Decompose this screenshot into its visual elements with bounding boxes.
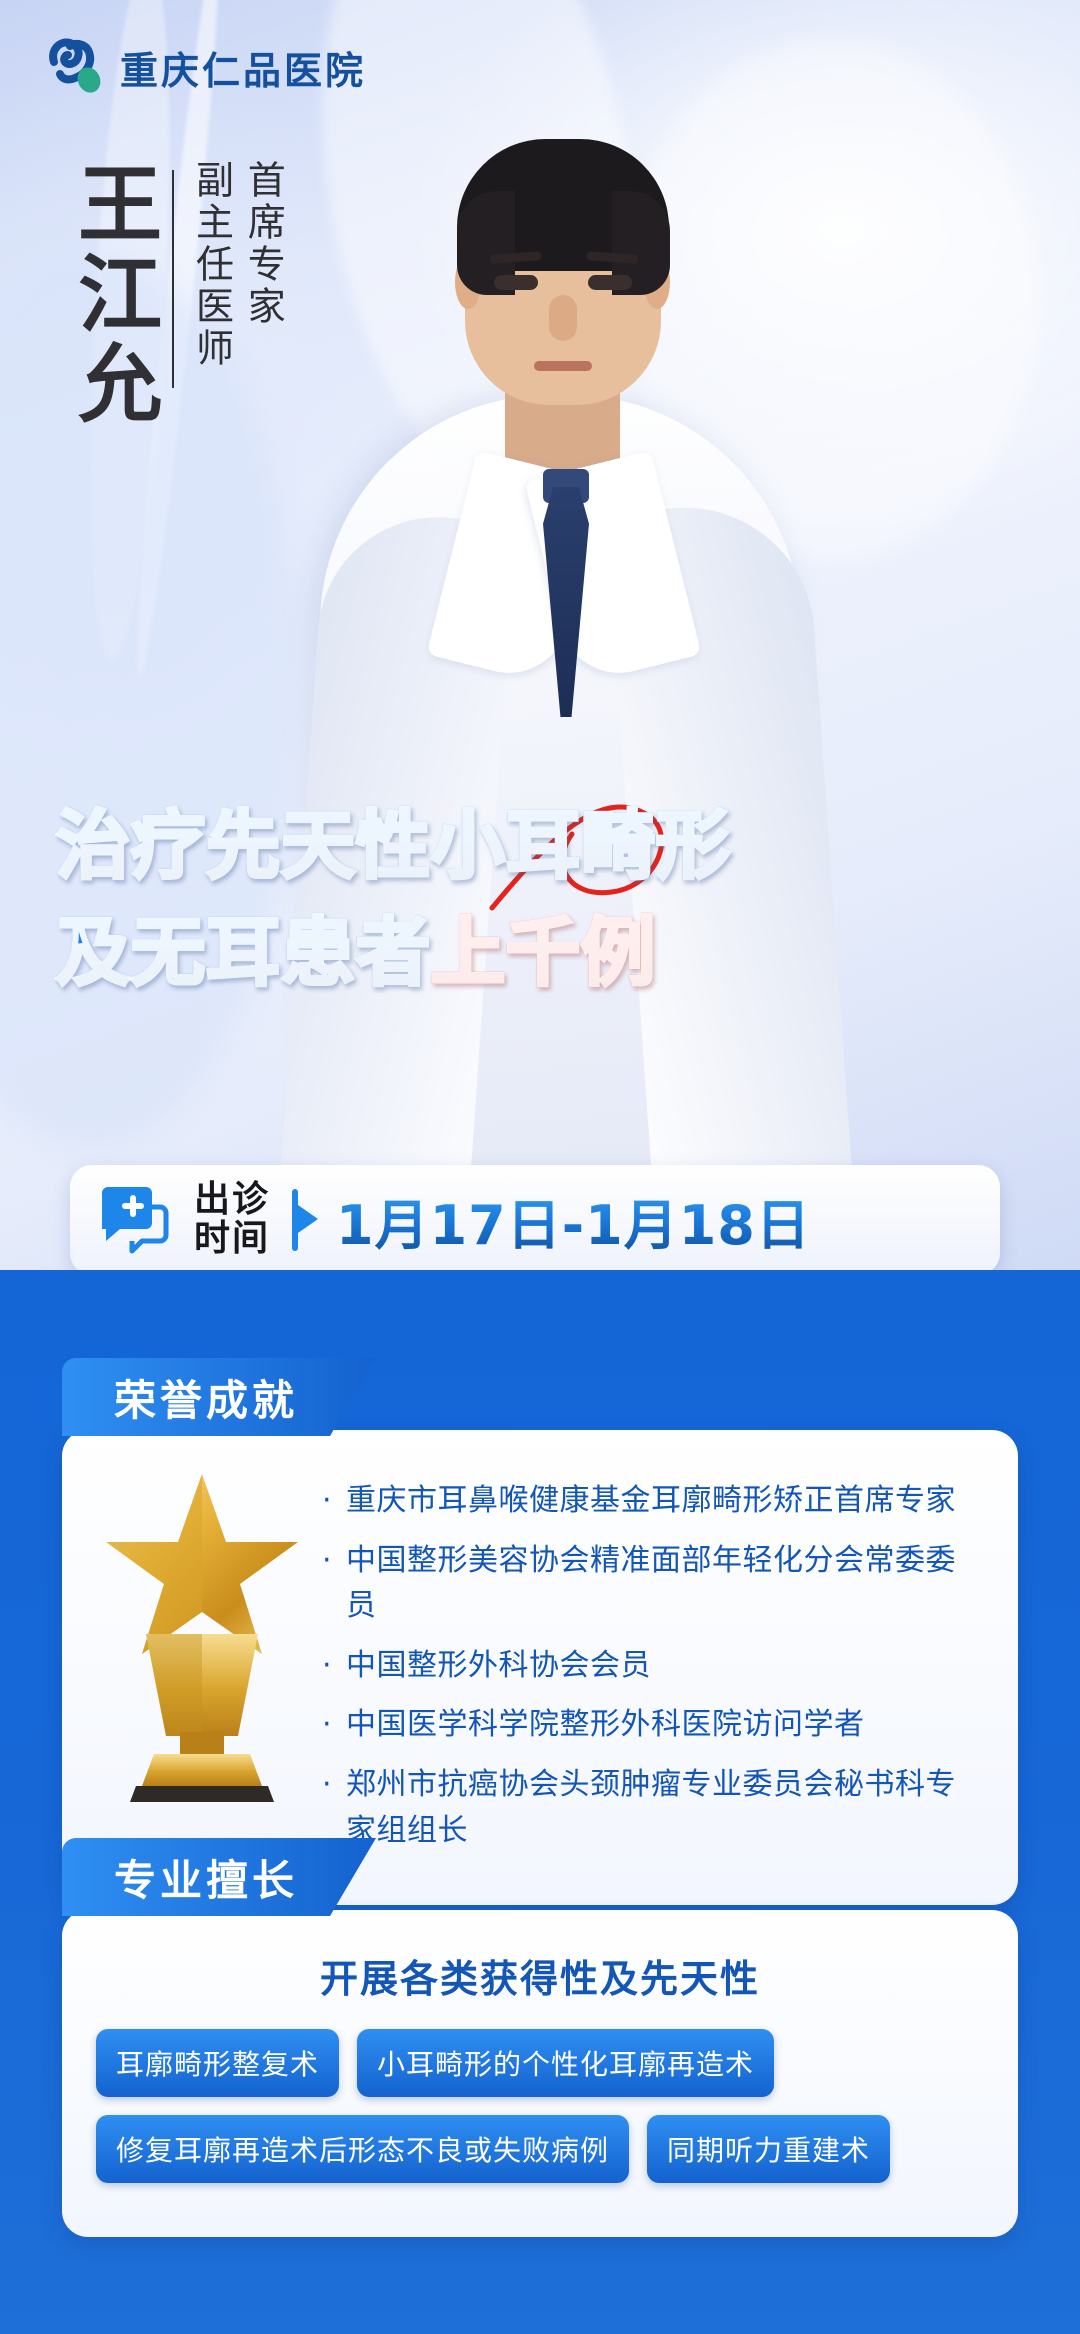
specialty-section: 专业擅长 开展各类获得性及先天性 耳廓畸形整复术 小耳畸形的个性化耳廓再造术 修… [62, 1838, 1018, 2237]
hospital-logo: 重庆仁品医院 [44, 36, 366, 98]
list-item: · 重庆市耳鼻喉健康基金耳廓畸形矫正首席专家 [322, 1478, 978, 1524]
list-item: · 中国整形外科协会会员 [322, 1643, 978, 1689]
list-bullet: · [322, 1478, 332, 1524]
specialty-section-title: 专业擅长 [62, 1838, 376, 1916]
list-item: · 中国整形美容协会精准面部年轻化分会常委委员 [322, 1538, 978, 1629]
list-item: · 中国医学科学院整形外科医院访问学者 [322, 1702, 978, 1748]
list-item-label: 中国医学科学院整形外科医院访问学者 [346, 1702, 865, 1748]
trophy-star-icon [102, 1464, 302, 1867]
list-item-label: 中国整形美容协会精准面部年轻化分会常委委员 [346, 1538, 978, 1629]
consult-time-banner: 出诊 时间 1月17日-1月18日 [70, 1165, 1000, 1270]
honors-section-title: 荣誉成就 [62, 1358, 376, 1436]
headline-line2-red: 上千例 [431, 893, 656, 1000]
honors-section: 荣誉成就 [62, 1358, 1018, 1905]
list-bullet: · [322, 1643, 332, 1689]
list-bullet: · [322, 1702, 332, 1748]
consult-label-line2: 时间 [194, 1218, 270, 1259]
doctor-title-secondary: 首席专家 [241, 160, 283, 370]
headline-line2-blue: 及无耳患者 [56, 893, 431, 1000]
consult-label-line1: 出诊 [194, 1179, 270, 1220]
specialty-tag[interactable]: 同期听力重建术 [647, 2115, 890, 2183]
list-item-label: 中国整形外科协会会员 [346, 1643, 651, 1689]
doctor-title-primary: 副主任医师 [190, 160, 232, 370]
consult-date-range: 1月17日-1月18日 [336, 1181, 811, 1260]
honors-card: · 重庆市耳鼻喉健康基金耳廓畸形矫正首席专家 · 中国整形美容协会精准面部年轻化… [62, 1430, 1018, 1905]
hero-section: 重庆仁品医院 王江允 副主任医师 首席专家 治疗先天性小耳畸形 及无耳患者 上千… [0, 0, 1080, 1270]
name-divider [172, 170, 174, 388]
specialty-tag-row: 修复耳廓再造术后形态不良或失败病例 同期听力重建术 [96, 2115, 984, 2183]
chat-plus-icon [98, 1185, 172, 1255]
list-item-label: 重庆市耳鼻喉健康基金耳廓畸形矫正首席专家 [346, 1478, 956, 1524]
specialty-lead-text: 开展各类获得性及先天性 [96, 1948, 984, 2003]
consult-time-label: 出诊 时间 [194, 1181, 270, 1259]
specialty-tag[interactable]: 修复耳廓再造术后形态不良或失败病例 [96, 2115, 629, 2183]
headline-line1: 治疗先天性小耳畸形 [56, 786, 731, 893]
hospital-ribbon-logo-icon [44, 36, 104, 98]
doctor-portrait [300, 95, 820, 1225]
list-bullet: · [322, 1538, 332, 1629]
hospital-name: 重庆仁品医院 [120, 40, 366, 95]
specialty-tag[interactable]: 耳廓畸形整复术 [96, 2029, 339, 2097]
specialty-tag[interactable]: 小耳畸形的个性化耳廓再造术 [357, 2029, 774, 2097]
doctor-name-block: 王江允 副主任医师 首席专家 [70, 160, 283, 430]
specialty-card: 开展各类获得性及先天性 耳廓畸形整复术 小耳畸形的个性化耳廓再造术 修复耳廓再造… [62, 1910, 1018, 2237]
headline: 治疗先天性小耳畸形 及无耳患者 上千例 [56, 786, 716, 1000]
honors-list: · 重庆市耳鼻喉健康基金耳廓畸形矫正首席专家 · 中国整形美容协会精准面部年轻化… [322, 1464, 978, 1867]
consult-separator-arrow [292, 1189, 298, 1251]
specialty-tag-row: 耳廓畸形整复术 小耳畸形的个性化耳廓再造术 [96, 2029, 984, 2097]
doctor-name: 王江允 [70, 160, 156, 430]
